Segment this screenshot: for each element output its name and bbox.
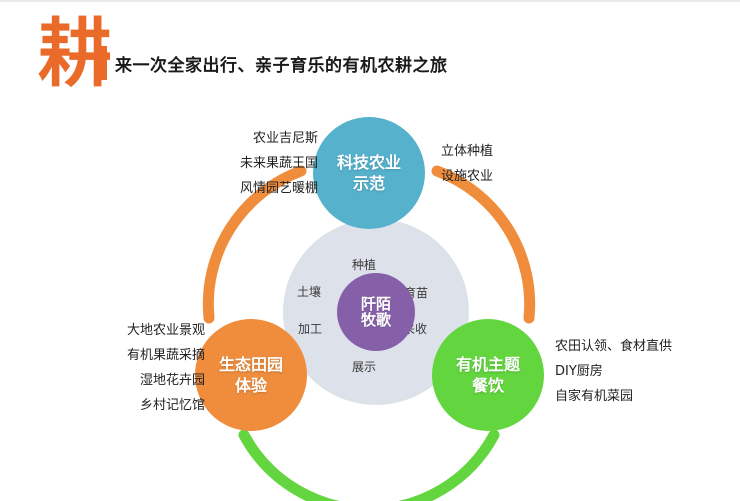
node-label-eco: 生态田园 体验 [219, 354, 283, 396]
node-circle-tech[interactable]: 科技农业 示范 [313, 117, 425, 229]
annotation-item: 乡村记忆馆 [95, 393, 205, 418]
page-title: 来一次全家出行、亲子育乐的有机农耕之旅 [115, 51, 448, 76]
annotation-item: 设施农业 [441, 164, 493, 189]
node-circle-eco[interactable]: 生态田园 体验 [195, 319, 307, 431]
page-header: 耕 来一次全家出行、亲子育乐的有机农耕之旅 [0, 0, 740, 110]
annotation-item: 自家有机菜园 [555, 384, 672, 409]
bottom-arc [244, 435, 494, 501]
page-root: 耕 来一次全家出行、亲子育乐的有机农耕之旅 种植 育苗 采收 展示 加工 土壤 … [0, 0, 740, 501]
annotations-bottom-right: 农田认领、食材直供 DIY厨房 自家有机菜园 [555, 334, 672, 409]
annotations-bottom-left: 大地农业景观 有机果蔬采摘 湿地花卉园 乡村记忆馆 [95, 318, 205, 418]
annotation-item: 未来果蔬王国 [208, 151, 318, 176]
process-label-turang: 土壤 [297, 283, 321, 300]
annotation-item: DIY厨房 [555, 359, 672, 384]
annotation-item: 风情园艺暖棚 [208, 176, 318, 201]
node-circle-food[interactable]: 有机主题 餐饮 [432, 319, 544, 431]
annotations-top-left: 农业吉尼斯 未来果蔬王国 风情园艺暖棚 [208, 126, 318, 201]
annotation-item: 有机果蔬采摘 [95, 343, 205, 368]
process-label-zhanshi: 展示 [352, 358, 376, 375]
node-label-tech: 科技农业 示范 [337, 152, 401, 194]
process-label-zhongzhi: 种植 [352, 256, 376, 273]
annotation-item: 立体种植 [441, 139, 493, 164]
process-label-jiagong: 加工 [298, 320, 322, 337]
core-label: 阡陌牧歌 [359, 296, 393, 328]
annotation-item: 农业吉尼斯 [208, 126, 318, 151]
annotation-item: 农田认领、食材直供 [555, 334, 672, 359]
title-accent-bar [101, 46, 107, 80]
annotations-top-right: 立体种植 设施农业 [441, 139, 493, 189]
annotation-item: 湿地花卉园 [95, 368, 205, 393]
node-label-food: 有机主题 餐饮 [456, 354, 520, 396]
venn-diagram: 种植 育苗 采收 展示 加工 土壤 阡陌牧歌 科技农业 示范 生态田园 体验 有… [0, 96, 740, 501]
annotation-item: 大地农业景观 [95, 318, 205, 343]
core-circle[interactable]: 阡陌牧歌 [337, 273, 415, 351]
